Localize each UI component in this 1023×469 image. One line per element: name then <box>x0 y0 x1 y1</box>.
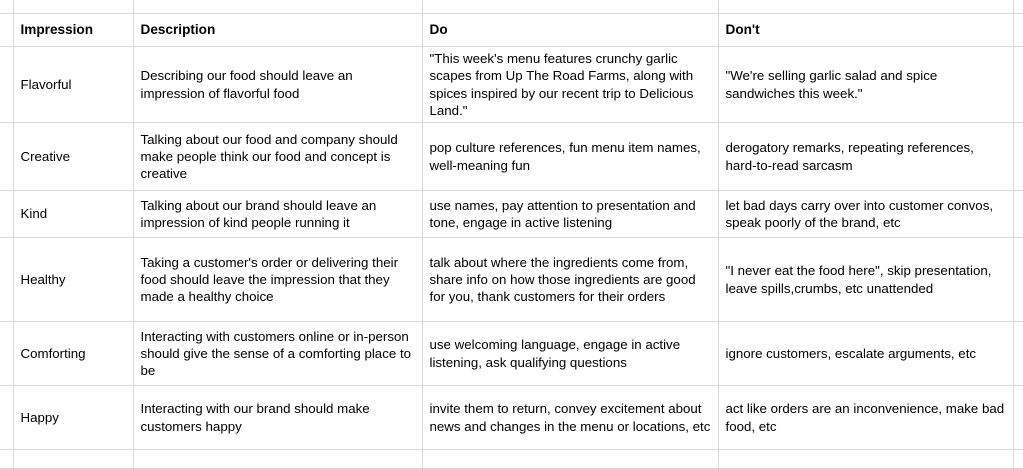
cell-do-text: pop culture references, fun menu item na… <box>430 139 712 174</box>
cell-do[interactable] <box>422 450 718 469</box>
table-row: Flavorful Describing our food should lea… <box>0 47 1023 123</box>
cell-description-text: Describing our food should leave an impr… <box>141 67 416 102</box>
cell-dont[interactable]: "We're selling garlic salad and spice sa… <box>718 47 1013 123</box>
row-gutter-left <box>0 47 13 123</box>
cell-description[interactable] <box>133 450 422 469</box>
table-row: Healthy Taking a customer's order or del… <box>0 238 1023 322</box>
cell-impression[interactable]: Comforting <box>13 322 133 386</box>
column-header-impression[interactable]: Impression <box>13 14 133 47</box>
cell-description-text: Interacting with customers online or in-… <box>141 328 416 380</box>
row-gutter-right <box>1013 450 1023 469</box>
cell-impression-text: Flavorful <box>21 76 127 93</box>
cell-impression[interactable] <box>13 450 133 469</box>
cell-do-text: talk about where the ingredients come fr… <box>430 254 712 306</box>
row-gutter-right <box>1013 238 1023 322</box>
row-gutter-right <box>1013 322 1023 386</box>
cell-do-text: use welcoming language, engage in active… <box>430 336 712 371</box>
cell-impression[interactable]: Kind <box>13 191 133 238</box>
row-gutter-right <box>1013 123 1023 191</box>
row-gutter-right <box>1013 191 1023 238</box>
cell-description[interactable]: Interacting with customers online or in-… <box>133 322 422 386</box>
cell-dont[interactable]: ignore customers, escalate arguments, et… <box>718 322 1013 386</box>
cell-dont[interactable] <box>718 450 1013 469</box>
cell-do[interactable]: talk about where the ingredients come fr… <box>422 238 718 322</box>
table-row-top-spacer <box>0 0 1023 14</box>
row-gutter-left <box>0 191 13 238</box>
column-header-dont[interactable]: Don't <box>718 14 1013 47</box>
table-row: Kind Talking about our brand should leav… <box>0 191 1023 238</box>
spacer-cell-dont[interactable] <box>718 0 1013 14</box>
spacer-cell-description[interactable] <box>133 0 422 14</box>
column-header-do[interactable]: Do <box>422 14 718 47</box>
cell-impression[interactable]: Flavorful <box>13 47 133 123</box>
cell-description-text: Talking about our brand should leave an … <box>141 197 416 232</box>
cell-dont-text: "We're selling garlic salad and spice sa… <box>726 67 1007 102</box>
cell-impression[interactable]: Healthy <box>13 238 133 322</box>
cell-impression-text: Healthy <box>21 271 127 288</box>
row-gutter-left <box>0 450 13 469</box>
cell-description-text: Taking a customer's order or delivering … <box>141 254 416 306</box>
cell-impression[interactable]: Creative <box>13 123 133 191</box>
row-gutter-right <box>1013 0 1023 14</box>
cell-do-text: "This week's menu features crunchy garli… <box>430 50 712 119</box>
row-gutter-right <box>1013 47 1023 123</box>
spacer-cell-impression[interactable] <box>13 0 133 14</box>
cell-dont[interactable]: let bad days carry over into customer co… <box>718 191 1013 238</box>
cell-description[interactable]: Describing our food should leave an impr… <box>133 47 422 123</box>
cell-dont-text: let bad days carry over into customer co… <box>726 197 1007 232</box>
cell-dont-text: "I never eat the food here", skip presen… <box>726 262 1007 297</box>
spreadsheet-canvas: Impression Description Do Don't Flavorfu… <box>0 0 1023 418</box>
cell-dont[interactable]: derogatory remarks, repeating references… <box>718 123 1013 191</box>
row-gutter-left <box>0 238 13 322</box>
cell-impression-text: Creative <box>21 148 127 165</box>
cell-dont[interactable]: "I never eat the food here", skip presen… <box>718 238 1013 322</box>
row-gutter-left <box>0 322 13 386</box>
cell-do[interactable]: use welcoming language, engage in active… <box>422 322 718 386</box>
cell-do-text: use names, pay attention to presentation… <box>430 197 712 232</box>
row-gutter-left <box>0 14 13 47</box>
cell-do[interactable]: use names, pay attention to presentation… <box>422 191 718 238</box>
cell-do[interactable]: pop culture references, fun menu item na… <box>422 123 718 191</box>
cell-description-text: Talking about our food and company shoul… <box>141 131 416 183</box>
column-header-do-label: Do <box>430 21 712 39</box>
spacer-cell-do[interactable] <box>422 0 718 14</box>
cell-description[interactable]: Talking about our brand should leave an … <box>133 191 422 238</box>
cell-impression-text: Comforting <box>21 345 127 362</box>
column-header-description-label: Description <box>141 21 416 39</box>
cell-description[interactable]: Talking about our food and company shoul… <box>133 123 422 191</box>
table-row: Comforting Interacting with customers on… <box>0 322 1023 386</box>
data-table: Impression Description Do Don't Flavorfu… <box>0 0 1023 469</box>
column-header-dont-label: Don't <box>726 21 1007 39</box>
cell-do[interactable]: "This week's menu features crunchy garli… <box>422 47 718 123</box>
cell-description[interactable]: Taking a customer's order or delivering … <box>133 238 422 322</box>
row-gutter-left <box>0 123 13 191</box>
column-header-description[interactable]: Description <box>133 14 422 47</box>
row-gutter-right <box>1013 14 1023 47</box>
row-gutter-left <box>0 0 13 14</box>
cell-dont-text: ignore customers, escalate arguments, et… <box>726 345 1007 362</box>
table-header-row: Impression Description Do Don't <box>0 14 1023 47</box>
table-row: Creative Talking about our food and comp… <box>0 123 1023 191</box>
cell-impression-text: Kind <box>21 205 127 222</box>
table-row-empty <box>0 450 1023 469</box>
column-header-impression-label: Impression <box>21 21 127 39</box>
cell-dont-text: derogatory remarks, repeating references… <box>726 139 1007 174</box>
